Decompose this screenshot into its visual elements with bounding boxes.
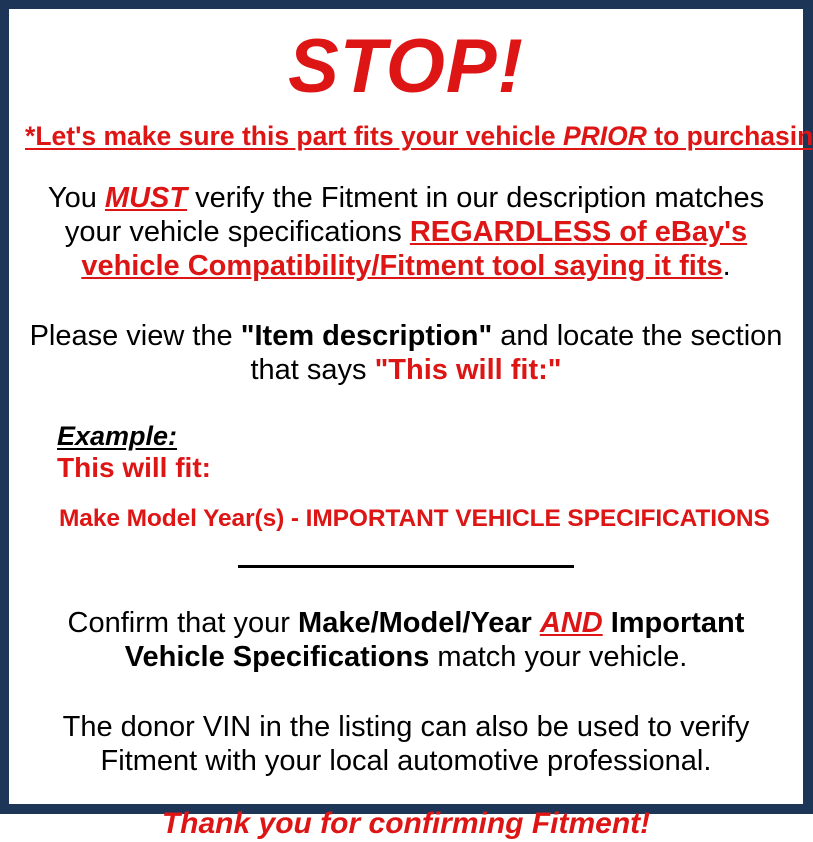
- donor-vin-paragraph: The donor VIN in the listing can also be…: [25, 674, 787, 778]
- must-seg-1: You: [48, 182, 105, 214]
- stop-title: STOP!: [25, 11, 787, 109]
- item-description-label: "Item description": [241, 320, 492, 352]
- confirm-seg-2: match your vehicle.: [429, 641, 687, 673]
- example-fit-header: This will fit:: [57, 452, 787, 484]
- subtitle-prefix: *Let's make sure this part fits your veh…: [25, 121, 563, 151]
- section-divider: [238, 565, 574, 568]
- confirm-seg-1: Confirm that your: [68, 607, 298, 639]
- subtitle-suffix: to purchasing*: [647, 121, 813, 151]
- and-keyword: AND: [540, 607, 603, 639]
- example-block: Example: This will fit: Make Model Year(…: [25, 387, 787, 534]
- view-item-description-paragraph: Please view the "Item description" and l…: [25, 283, 787, 387]
- this-will-fit-label: "This will fit:": [375, 354, 562, 386]
- make-model-year-label: Make/Model/Year: [298, 607, 532, 639]
- notice-inner-panel: STOP! *Let's make sure this part fits yo…: [9, 9, 803, 804]
- example-spec-line: Make Model Year(s) - IMPORTANT VEHICLE S…: [57, 484, 787, 534]
- must-seg-3: .: [723, 250, 731, 282]
- example-label-row: Example:: [57, 421, 787, 452]
- confirm-paragraph: Confirm that your Make/Model/Year AND Im…: [25, 576, 787, 674]
- divider-wrap: [25, 534, 787, 576]
- thank-you-line: Thank you for confirming Fitment!: [25, 778, 787, 842]
- must-keyword: MUST: [105, 182, 187, 214]
- must-verify-paragraph: You MUST verify the Fitment in our descr…: [25, 153, 787, 283]
- subtitle-emphasis-prior: PRIOR: [563, 121, 647, 151]
- fitment-notice-card: STOP! *Let's make sure this part fits yo…: [0, 0, 813, 814]
- view-seg-1: Please view the: [30, 320, 241, 352]
- subtitle-banner: *Let's make sure this part fits your veh…: [25, 109, 787, 153]
- example-label: Example:: [57, 421, 177, 452]
